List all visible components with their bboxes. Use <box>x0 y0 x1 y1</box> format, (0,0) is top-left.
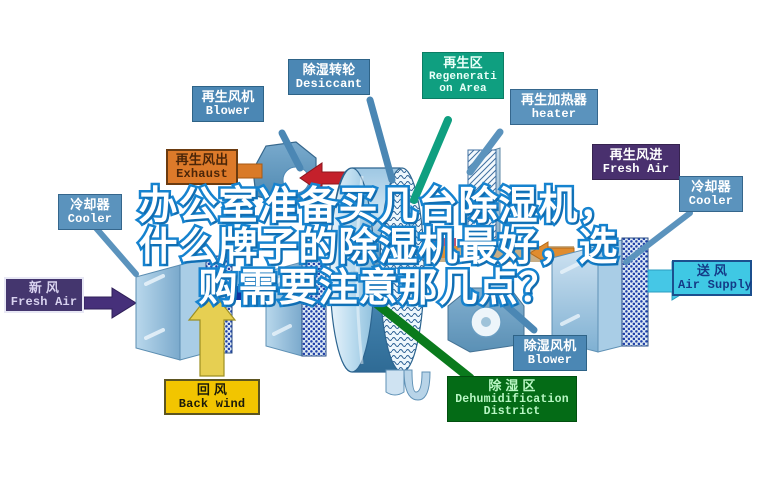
label-fresh-air-left-cn: 新 风 <box>10 281 78 296</box>
label-back-wind-cn: 回 风 <box>170 383 254 398</box>
label-regen-heater-cn: 再生加热器 <box>515 93 593 108</box>
label-dehumidification-district-cn: 除 湿 区 <box>452 379 572 394</box>
label-back-wind: 回 风 Back wind <box>164 379 260 415</box>
label-cooler-right-en: Cooler <box>684 195 738 208</box>
label-exhaust-cn: 再生风出 <box>172 153 232 168</box>
label-regeneration-area-en1: Regenerati <box>427 71 499 83</box>
label-regen-fresh-air-cn: 再生风进 <box>597 148 675 163</box>
label-dehum-blower: 除湿风机 Blower <box>513 335 587 371</box>
label-desiccant-wheel-cn: 除湿转轮 <box>293 63 365 78</box>
label-dehum-blower-en: Blower <box>518 354 582 367</box>
label-back-wind-en: Back wind <box>170 398 254 411</box>
label-regen-heater-en: heater <box>515 108 593 121</box>
label-air-supply-en: Air Supply <box>678 279 746 292</box>
label-desiccant-wheel: 除湿转轮 Desiccant <box>288 59 370 95</box>
label-regen-heater: 再生加热器 heater <box>510 89 598 125</box>
diagram-canvas: XT <box>0 0 757 488</box>
desiccant-rotor: XT <box>330 168 424 372</box>
label-cooler-left-cn: 冷却器 <box>63 198 117 213</box>
label-regeneration-area-cn: 再生区 <box>427 56 499 71</box>
condensate-drain <box>386 370 430 400</box>
label-air-supply: 送 风 Air Supply <box>672 260 752 296</box>
label-dehum-blower-cn: 除湿风机 <box>518 339 582 354</box>
label-regen-blower-cn: 再生风机 <box>197 90 259 105</box>
label-regeneration-area: 再生区 Regenerati on Area <box>422 52 504 99</box>
label-regen-fresh-air: 再生风进 Fresh Air <box>592 144 680 180</box>
label-exhaust-en: Exhaust <box>172 168 232 181</box>
label-cooler-left: 冷却器 Cooler <box>58 194 122 230</box>
label-exhaust: 再生风出 Exhaust <box>166 149 238 185</box>
label-desiccant-wheel-en: Desiccant <box>293 78 365 91</box>
label-air-supply-cn: 送 风 <box>678 264 746 279</box>
label-dehumidification-district: 除 湿 区 Dehumidification District <box>447 376 577 422</box>
label-regen-blower-en: Blower <box>197 105 259 118</box>
svg-text:XT: XT <box>346 270 358 280</box>
label-cooler-right: 冷却器 Cooler <box>679 176 743 212</box>
label-regeneration-area-en2: on Area <box>427 83 499 95</box>
label-fresh-air-left-en: Fresh Air <box>10 296 78 309</box>
label-fresh-air-left: 新 风 Fresh Air <box>4 277 84 313</box>
regeneration-heater <box>430 148 574 264</box>
label-cooler-left-en: Cooler <box>63 213 117 226</box>
label-regen-blower: 再生风机 Blower <box>192 86 264 122</box>
label-regen-fresh-air-en: Fresh Air <box>597 163 675 176</box>
label-cooler-right-cn: 冷却器 <box>684 180 738 195</box>
return-air-duct <box>266 260 326 356</box>
label-dehumidification-district-en2: District <box>452 406 572 419</box>
dehumidifier-schematic: XT <box>0 0 757 488</box>
